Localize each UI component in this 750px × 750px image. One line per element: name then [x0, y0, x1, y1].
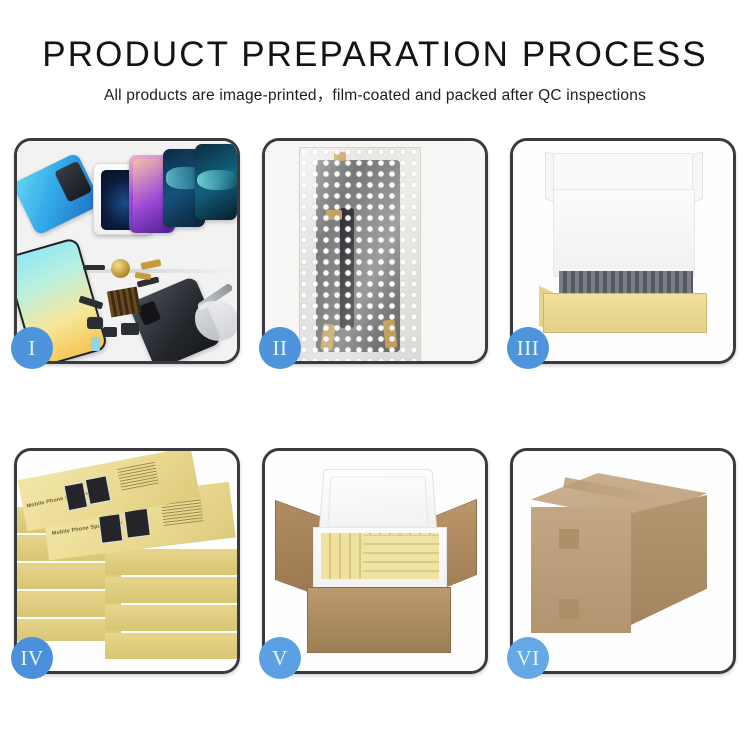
process-step-5: V [262, 448, 488, 674]
carton-front-panel [307, 587, 451, 653]
logic-board-chip [107, 287, 141, 318]
gold-flex-2 [135, 272, 152, 280]
process-step-3: III [510, 138, 736, 364]
phone-parts-collage [17, 141, 237, 361]
page-title: PRODUCT PREPARATION PROCESS [0, 34, 750, 76]
page-header: PRODUCT PREPARATION PROCESS All products… [0, 0, 750, 106]
open-white-inner-box [513, 141, 733, 361]
step-badge-2: II [259, 327, 301, 369]
small-chip-2 [87, 317, 103, 329]
step-badge-6: VI [507, 637, 549, 679]
step-badge-3: III [507, 327, 549, 369]
sealed-shipping-carton [513, 451, 733, 671]
stacked-kraft-boxes: Mobile Phone Spare Parts Mobile Phone Sp… [17, 451, 237, 671]
plastic-glint [300, 148, 420, 361]
bubble-bag [299, 147, 421, 361]
bubble-wrap-bag [265, 141, 485, 361]
foam-lining [553, 189, 695, 277]
step-badge-5: V [259, 637, 301, 679]
teal-phone-2 [195, 144, 237, 220]
box-front-panel [543, 293, 707, 333]
step-badge-1: I [11, 327, 53, 369]
process-step-1: I [14, 138, 240, 364]
tape-patch-bottom [559, 599, 579, 619]
small-chip-1 [83, 265, 105, 270]
process-step-2: II [262, 138, 488, 364]
carton-right-face [631, 495, 707, 625]
right-stack [105, 549, 237, 665]
kraft-boxes-row-2 [363, 535, 439, 579]
small-part-5 [91, 337, 100, 351]
process-step-4: Mobile Phone Spare Parts Mobile Phone Sp… [14, 448, 240, 674]
process-step-6: VI [510, 448, 736, 674]
blue-screen-part [17, 152, 102, 236]
carton-left-face [531, 507, 631, 633]
process-step-grid: I II III [14, 138, 736, 674]
small-chip-3 [103, 327, 117, 337]
foam-box-in-carton [265, 451, 485, 671]
tape-patch-top [559, 529, 579, 549]
gold-component [111, 259, 130, 278]
small-chip-4 [121, 323, 139, 335]
foam-box-lid [318, 469, 437, 536]
page-subtitle: All products are image-printed，film-coat… [0, 86, 750, 106]
step-badge-4: IV [11, 637, 53, 679]
